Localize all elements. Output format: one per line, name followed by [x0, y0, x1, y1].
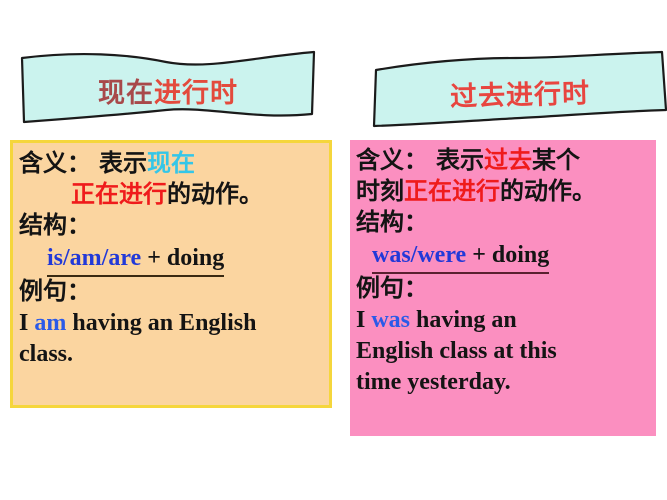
banner-left-title: 现在进行时 [18, 71, 318, 110]
right-meaning-rest: 的动作。 [500, 179, 596, 205]
left-structure-rest: + doing [141, 245, 224, 271]
banner-right-title: 过去进行时 [370, 69, 667, 116]
left-meaning-rest: 的动作。 [167, 182, 263, 208]
right-example-pre: I [356, 307, 371, 333]
right-example-line2: English class at this [356, 336, 652, 367]
right-structure-label: 结构： [356, 208, 652, 239]
left-structure-formula: is/am/are + doing [19, 243, 323, 277]
right-meaning-prefix: 表示 [436, 148, 484, 174]
left-meaning-highlight: 现在 [147, 151, 195, 177]
right-structure-rest: + doing [466, 242, 549, 268]
banner-past-continuous: 过去进行时 [370, 48, 667, 128]
card-past-continuous: 含义： 表示过去某个 时刻正在进行的动作。 结构： was/were + doi… [350, 140, 656, 436]
card-present-continuous: 含义： 表示现在 正在进行的动作。 结构： is/am/are + doing … [10, 140, 332, 408]
banner-left-title-part1: 现在 [98, 78, 154, 108]
banner-present-continuous: 现在进行时 [18, 48, 318, 128]
left-example-pre: I [19, 310, 34, 336]
right-example-label: 例句： [356, 274, 652, 305]
right-meaning-red: 正在进行 [404, 179, 500, 205]
right-structure-formula: was/were + doing [356, 240, 652, 274]
left-example-line2: class. [19, 339, 323, 370]
left-meaning-red: 正在进行 [71, 182, 167, 208]
left-meaning-line2: 正在进行的动作。 [19, 180, 323, 211]
left-structure-aux: is/am/are [47, 245, 141, 271]
right-meaning-line2: 时刻正在进行的动作。 [356, 177, 652, 208]
left-meaning-line1: 含义： 表示现在 [19, 149, 323, 180]
right-meaning-highlight: 过去 [484, 148, 532, 174]
right-meaning-suffix: 某个 [532, 148, 580, 174]
right-meaning-line2-pre: 时刻 [356, 179, 404, 205]
right-meaning-label: 含义： [356, 148, 428, 174]
left-example-label: 例句： [19, 277, 323, 308]
right-meaning-line1: 含义： 表示过去某个 [356, 146, 652, 177]
right-example-post: having an [410, 307, 517, 333]
banner-left-title-part2: 进行时 [154, 78, 238, 108]
left-meaning-prefix: 表示 [99, 151, 147, 177]
right-structure-aux: was/were [372, 242, 466, 268]
left-example-verb: am [34, 310, 66, 336]
left-example-post: having an English [66, 310, 256, 336]
left-meaning-label: 含义： [19, 151, 91, 177]
right-example-line3: time yesterday. [356, 367, 652, 398]
left-structure-label: 结构： [19, 211, 323, 242]
left-example-line1: I am having an English [19, 308, 323, 339]
right-example-verb: was [371, 307, 410, 333]
right-example-line1: I was having an [356, 305, 652, 336]
